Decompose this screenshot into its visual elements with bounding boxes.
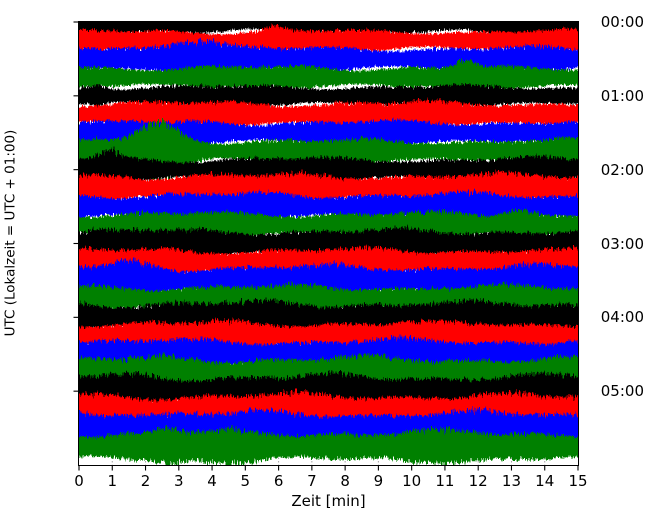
y-tick-label: 04:00 xyxy=(571,308,650,326)
x-tick-label: 15 xyxy=(568,472,587,490)
plot-area xyxy=(78,21,579,466)
x-tick-label: 11 xyxy=(435,472,454,490)
x-axis-label-text: Zeit [min] xyxy=(291,492,365,510)
y-tick-label: 02:00 xyxy=(571,161,650,179)
x-tick-label: 5 xyxy=(241,472,251,490)
seismogram-traces xyxy=(79,22,578,465)
y-tick-label: 03:00 xyxy=(571,235,650,253)
x-tick-label: 4 xyxy=(207,472,217,490)
x-tick-label: 6 xyxy=(274,472,284,490)
y-tick-label: 05:00 xyxy=(571,382,650,400)
x-tick-label: 7 xyxy=(307,472,317,490)
x-axis-label: Zeit [min] xyxy=(78,492,579,510)
x-tick-label: 14 xyxy=(535,472,554,490)
x-tick-label: 13 xyxy=(502,472,521,490)
seismogram-figure: UTC (Lokalzeit = UTC + 01:00) 00:0001:00… xyxy=(0,0,650,520)
x-tick-label: 1 xyxy=(107,472,117,490)
y-axis-label-text: UTC (Lokalzeit = UTC + 01:00) xyxy=(2,130,18,337)
y-tick-label: 00:00 xyxy=(571,13,650,31)
x-tick-label: 8 xyxy=(340,472,350,490)
x-tick-label: 12 xyxy=(469,472,488,490)
x-tick-label: 10 xyxy=(402,472,421,490)
x-tick-label: 9 xyxy=(374,472,384,490)
y-tick-label: 01:00 xyxy=(571,87,650,105)
x-tick-label: 2 xyxy=(141,472,151,490)
x-tick-label: 0 xyxy=(74,472,84,490)
y-axis-label: UTC (Lokalzeit = UTC + 01:00) xyxy=(0,0,22,466)
x-tick-label: 3 xyxy=(174,472,184,490)
